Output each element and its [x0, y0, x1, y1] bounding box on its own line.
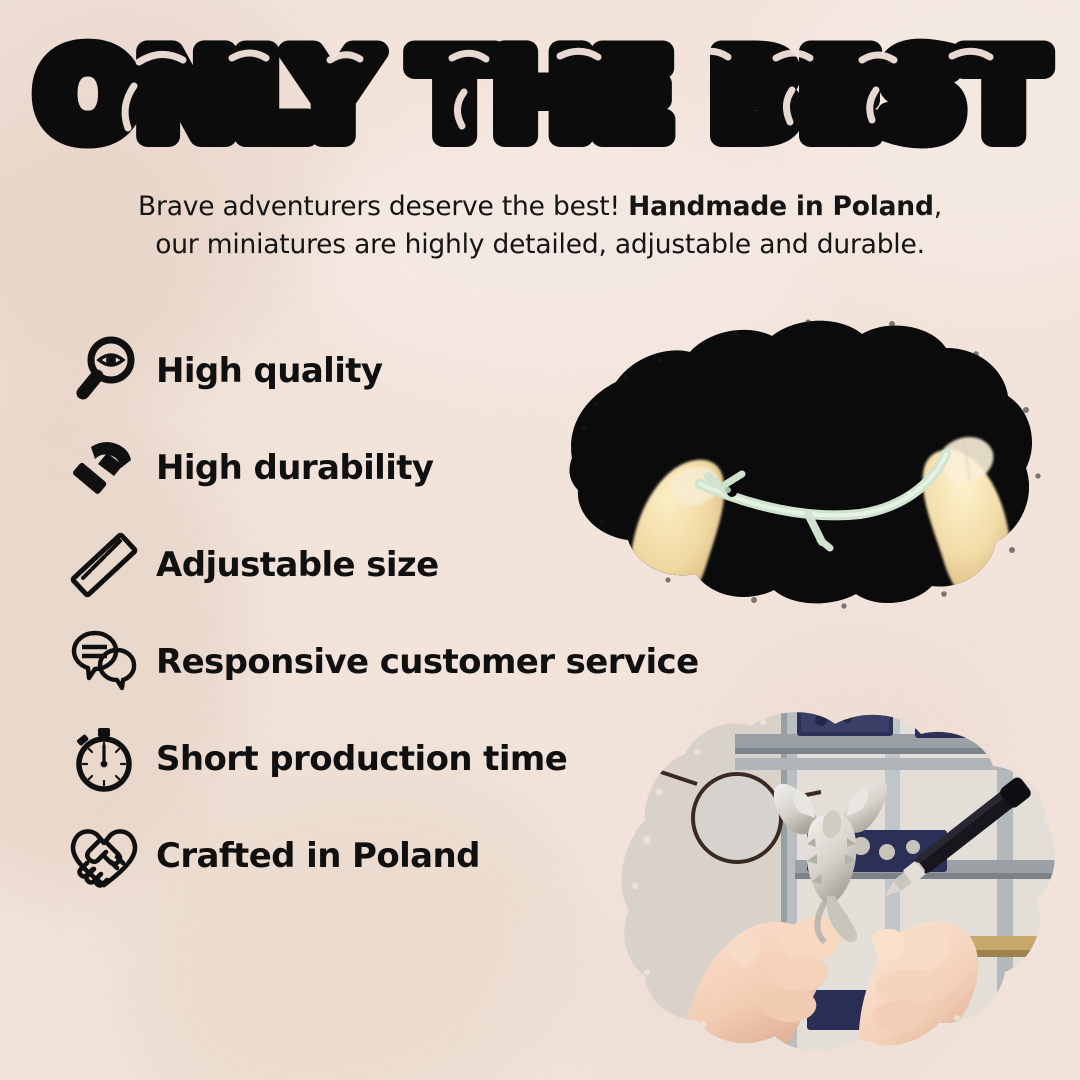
headline-graphic: ONLY THE BEST: [0, 0, 1080, 180]
subtitle-line2: our miniatures are highly detailed, adju…: [155, 229, 925, 260]
subtitle-tail: ,: [934, 191, 942, 222]
feature-label: Short production time: [156, 739, 567, 779]
svg-text:ONLY THE BEST: ONLY THE BEST: [37, 29, 1044, 164]
workshop-crafting-photo: [585, 700, 1080, 1080]
feature-label: Responsive customer service: [156, 642, 699, 682]
feature-item: Responsive customer service: [62, 613, 792, 710]
feature-label: High quality: [156, 351, 383, 391]
subtitle: Brave adventurers deserve the best! Hand…: [60, 188, 1020, 263]
flexible-miniature-photo: [540, 308, 1060, 620]
feature-label: Crafted in Poland: [156, 836, 480, 876]
ruler-icon: [62, 525, 146, 605]
hammer-icon: [62, 428, 146, 508]
subtitle-emphasis: Handmade in Poland: [628, 191, 934, 222]
handshake-heart-icon: [62, 816, 146, 896]
feature-label: Adjustable size: [156, 545, 439, 585]
headline-block: ONLY THE BEST: [0, 0, 1080, 180]
infographic-page: ONLY THE BEST Brave adventurers deserve …: [0, 0, 1080, 1080]
subtitle-lead: Brave adventurers deserve the best!: [138, 191, 620, 222]
magnifier-eye-icon: [62, 331, 146, 411]
stopwatch-icon: [62, 719, 146, 799]
feature-label: High durability: [156, 448, 433, 488]
speech-bubbles-icon: [62, 622, 146, 702]
